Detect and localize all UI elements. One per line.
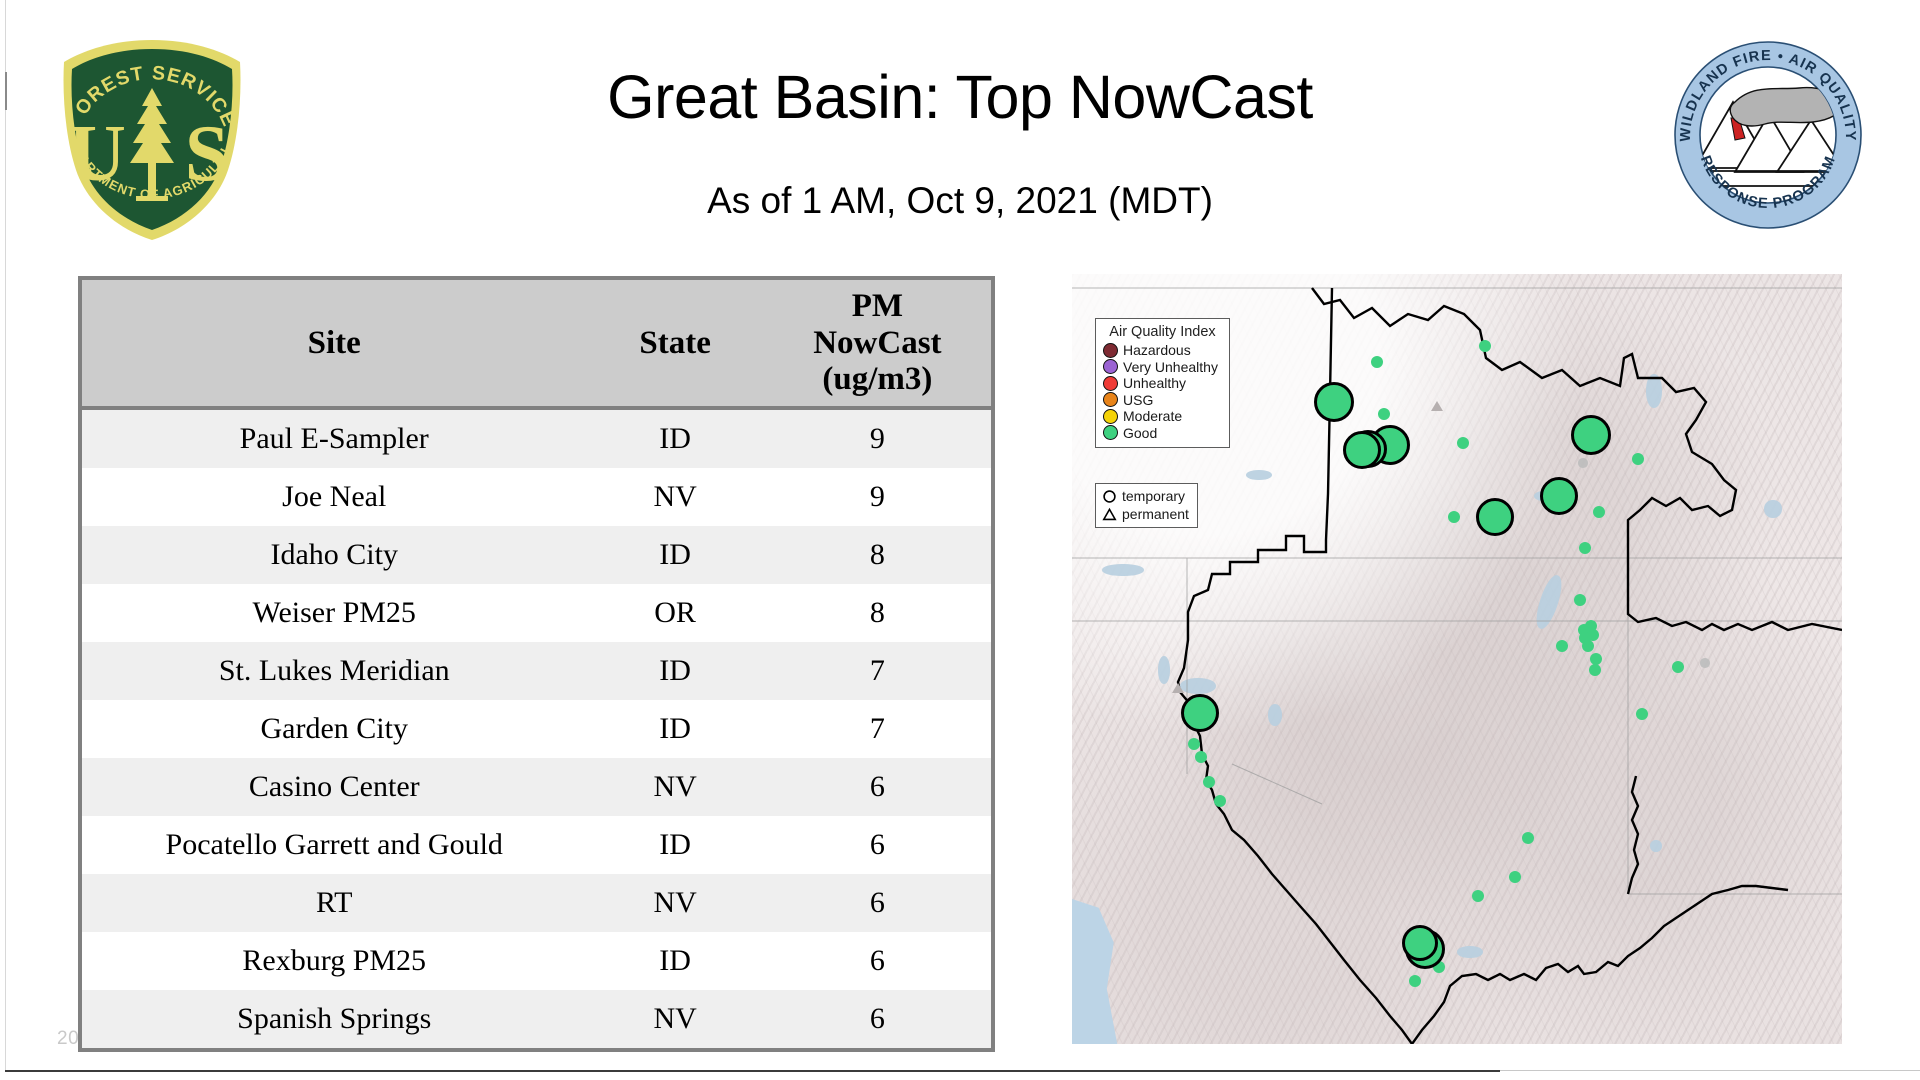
map-site-marker[interactable] — [1371, 356, 1383, 368]
site-name: Rexburg PM25 — [82, 932, 586, 990]
aqi-legend-item: Good — [1103, 425, 1222, 442]
site-type-permanent-label: permanent — [1122, 507, 1189, 521]
page-title: Great Basin: Top NowCast — [300, 62, 1620, 132]
air-quality-map[interactable]: Air Quality Index HazardousVery Unhealth… — [1072, 274, 1842, 1044]
site-pm-nowcast: 6 — [764, 758, 991, 816]
aqi-legend-swatch-icon — [1103, 359, 1118, 374]
aqi-legend-label: Moderate — [1123, 409, 1182, 423]
frame-left-tick — [5, 72, 7, 110]
site-pm-nowcast: 6 — [764, 932, 991, 990]
map-site-marker[interactable] — [1571, 415, 1611, 455]
temporary-circle-icon — [1102, 489, 1117, 504]
page-subtitle: As of 1 AM, Oct 9, 2021 (MDT) — [300, 180, 1620, 222]
aqi-legend-label: Good — [1123, 426, 1157, 440]
frame-left-edge — [5, 0, 6, 1071]
slide-canvas: FOREST SERVICE U S DEPARTMENT OF AGRICUL… — [0, 0, 1920, 1080]
table-row[interactable]: Garden CityID7 — [82, 700, 991, 758]
site-state: ID — [586, 526, 763, 584]
site-state: ID — [586, 932, 763, 990]
aqi-legend-label: Unhealthy — [1123, 376, 1186, 390]
site-name: RT — [82, 874, 586, 932]
aqi-legend-swatch-icon — [1103, 425, 1118, 440]
site-pm-nowcast: 7 — [764, 642, 991, 700]
aqi-legend-rows: HazardousVery UnhealthyUnhealthyUSGModer… — [1103, 342, 1222, 441]
column-header-pm-line1: PM — [852, 288, 903, 324]
site-state: OR — [586, 584, 763, 642]
site-state: ID — [586, 816, 763, 874]
map-site-marker[interactable] — [1203, 776, 1215, 788]
aqi-legend-item: Moderate — [1103, 408, 1222, 425]
aqi-legend-item: Unhealthy — [1103, 375, 1222, 392]
map-site-marker[interactable] — [1472, 890, 1484, 902]
table-row[interactable]: RTNV6 — [82, 874, 991, 932]
site-name: Idaho City — [82, 526, 586, 584]
nowcast-table: Site State PM NowCast (ug/m3) Paul E-Sam… — [82, 280, 991, 1048]
site-state: NV — [586, 758, 763, 816]
map-site-marker[interactable] — [1448, 511, 1460, 523]
site-pm-nowcast: 9 — [764, 468, 991, 526]
aqi-legend-swatch-icon — [1103, 392, 1118, 407]
site-state: ID — [586, 700, 763, 758]
column-header-pm-line3: (ug/m3) — [822, 361, 932, 397]
site-state: NV — [586, 468, 763, 526]
aqi-legend-swatch-icon — [1103, 343, 1118, 358]
table-row[interactable]: Joe NealNV9 — [82, 468, 991, 526]
site-name: St. Lukes Meridian — [82, 642, 586, 700]
map-site-marker[interactable] — [1672, 661, 1684, 673]
site-name: Weiser PM25 — [82, 584, 586, 642]
aqi-legend: Air Quality Index HazardousVery Unhealth… — [1095, 318, 1230, 448]
table-row[interactable]: Paul E-SamplerID9 — [82, 408, 991, 468]
map-site-marker[interactable] — [1589, 664, 1601, 676]
map-site-marker[interactable] — [1402, 925, 1438, 961]
column-header-pm-nowcast[interactable]: PM NowCast (ug/m3) — [764, 280, 991, 408]
table-row[interactable]: Casino CenterNV6 — [82, 758, 991, 816]
site-pm-nowcast: 6 — [764, 816, 991, 874]
aqi-legend-swatch-icon — [1103, 376, 1118, 391]
column-header-site-label: Site — [308, 325, 361, 361]
site-type-temporary: temporary — [1102, 487, 1192, 505]
us-forest-service-shield-logo: FOREST SERVICE U S DEPARTMENT OF AGRICUL… — [52, 36, 252, 244]
permanent-triangle-icon — [1102, 507, 1117, 522]
table-row[interactable]: Rexburg PM25ID6 — [82, 932, 991, 990]
site-type-permanent: permanent — [1102, 505, 1192, 523]
site-name: Pocatello Garrett and Gould — [82, 816, 586, 874]
column-header-site[interactable]: Site — [82, 280, 586, 408]
map-site-marker[interactable] — [1378, 408, 1390, 420]
state-outline — [1178, 288, 1842, 1044]
nowcast-table-container: Site State PM NowCast (ug/m3) Paul E-Sam… — [78, 276, 995, 1052]
table-body: Paul E-SamplerID9Joe NealNV9Idaho CityID… — [82, 408, 991, 1048]
map-site-marker[interactable] — [1509, 871, 1521, 883]
site-pm-nowcast: 7 — [764, 700, 991, 758]
frame-bottom-rule-faint — [1500, 1070, 1920, 1071]
aqi-legend-label: Very Unhealthy — [1123, 360, 1218, 374]
aqi-legend-swatch-icon — [1103, 409, 1118, 424]
site-name: Paul E-Sampler — [82, 408, 586, 468]
map-site-marker[interactable] — [1593, 506, 1605, 518]
table-row[interactable]: Pocatello Garrett and GouldID6 — [82, 816, 991, 874]
site-state: NV — [586, 990, 763, 1048]
site-pm-nowcast: 8 — [764, 526, 991, 584]
map-site-marker[interactable] — [1314, 382, 1354, 422]
aqi-legend-label: Hazardous — [1123, 343, 1191, 357]
map-permanent-site-marker[interactable] — [1431, 401, 1443, 411]
site-state: ID — [586, 408, 763, 468]
map-site-marker[interactable] — [1188, 738, 1200, 750]
map-site-marker[interactable] — [1632, 453, 1644, 465]
map-site-marker[interactable] — [1574, 594, 1586, 606]
site-name: Joe Neal — [82, 468, 586, 526]
wildland-fire-air-quality-logo: WILDLAND FIRE • AIR QUALITY RESPONSE PRO… — [1673, 40, 1863, 230]
map-permanent-site-marker[interactable] — [1172, 683, 1184, 693]
column-header-state[interactable]: State — [586, 280, 763, 408]
map-site-marker[interactable] — [1457, 437, 1469, 449]
site-pm-nowcast: 9 — [764, 408, 991, 468]
map-site-marker[interactable] — [1579, 542, 1591, 554]
table-row[interactable]: Weiser PM25OR8 — [82, 584, 991, 642]
aqi-legend-title: Air Quality Index — [1103, 324, 1222, 340]
map-site-marker[interactable] — [1343, 431, 1381, 469]
aqi-legend-item: USG — [1103, 392, 1222, 409]
map-site-marker[interactable] — [1540, 477, 1578, 515]
column-header-state-label: State — [639, 325, 710, 361]
site-pm-nowcast: 6 — [764, 990, 991, 1048]
map-site-marker[interactable] — [1476, 498, 1514, 536]
map-site-marker[interactable] — [1636, 708, 1648, 720]
map-site-marker[interactable] — [1195, 751, 1207, 763]
aqi-legend-label: USG — [1123, 393, 1153, 407]
site-type-temporary-label: temporary — [1122, 489, 1185, 503]
table-row[interactable]: Idaho CityID8 — [82, 526, 991, 584]
map-site-marker[interactable] — [1556, 640, 1568, 652]
column-header-pm-line2: NowCast — [813, 325, 941, 361]
map-site-marker[interactable] — [1214, 795, 1226, 807]
table-header-row: Site State PM NowCast (ug/m3) — [82, 280, 991, 408]
table-row[interactable]: Spanish SpringsNV6 — [82, 990, 991, 1048]
site-name: Garden City — [82, 700, 586, 758]
site-state: ID — [586, 642, 763, 700]
site-state: NV — [586, 874, 763, 932]
table-row[interactable]: St. Lukes MeridianID7 — [82, 642, 991, 700]
table-header: Site State PM NowCast (ug/m3) — [82, 280, 991, 408]
aqi-legend-item: Very Unhealthy — [1103, 359, 1222, 376]
site-pm-nowcast: 8 — [764, 584, 991, 642]
map-site-marker[interactable] — [1409, 975, 1421, 987]
site-name: Spanish Springs — [82, 990, 586, 1048]
site-type-legend: temporary permanent — [1095, 483, 1198, 528]
map-site-marker[interactable] — [1479, 340, 1491, 352]
site-name: Casino Center — [82, 758, 586, 816]
site-pm-nowcast: 6 — [764, 874, 991, 932]
frame-bottom-rule — [5, 1070, 1500, 1072]
map-site-marker[interactable] — [1582, 640, 1594, 652]
aqi-legend-item: Hazardous — [1103, 342, 1222, 359]
map-site-marker[interactable] — [1181, 694, 1219, 732]
map-site-marker[interactable] — [1522, 832, 1534, 844]
